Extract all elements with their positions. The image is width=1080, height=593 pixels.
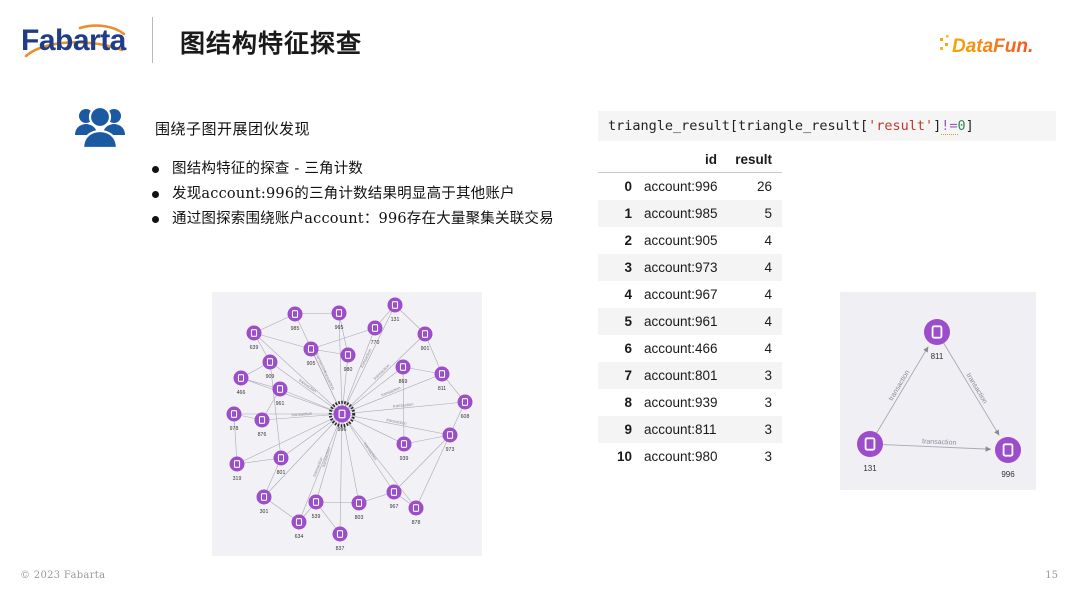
node-label: 319 [233, 476, 242, 482]
graph-node[interactable] [388, 298, 403, 313]
table-cell-id: account:466 [640, 335, 727, 362]
page-title: 图结构特征探查 [180, 24, 362, 60]
graph-node[interactable] [334, 406, 351, 423]
table-row: 6account:4664 [598, 335, 782, 362]
node-label: 980 [344, 367, 353, 373]
column-header-id: id [640, 150, 727, 173]
graph-node[interactable] [273, 382, 288, 397]
graph-node[interactable] [418, 327, 433, 342]
graph-node[interactable] [274, 451, 289, 466]
table-header-row: id result [598, 150, 782, 173]
table-cell-id: account:967 [640, 281, 727, 308]
edge-label: transaction [965, 372, 989, 405]
bullet-list: 图结构特征的探查 - 三角计数 发现account:996的三角计数结果明显高于… [148, 158, 598, 233]
table-cell-index: 3 [598, 254, 640, 281]
table-cell-result: 26 [727, 173, 782, 201]
table-row: 9account:8113 [598, 416, 782, 443]
slide-header: Fabarta 图结构特征探查 DataFun. [0, 0, 1080, 86]
table-cell-result: 4 [727, 308, 782, 335]
node-label: 869 [399, 379, 408, 385]
node-label: 985 [291, 326, 300, 332]
table-row: 3account:9734 [598, 254, 782, 281]
graph-edge [342, 414, 394, 492]
table-row: 2account:9054 [598, 227, 782, 254]
node-label: 878 [412, 520, 421, 526]
table-cell-result: 4 [727, 281, 782, 308]
node-label: 939 [400, 456, 409, 462]
node-label: 996 [338, 427, 347, 433]
node-label: 973 [446, 447, 455, 453]
graph-node[interactable] [247, 326, 262, 341]
node-label: 770 [371, 340, 380, 346]
table-cell-index: 7 [598, 362, 640, 389]
graph-node[interactable] [443, 428, 458, 443]
table-row: 0account:99626 [598, 173, 782, 201]
column-header-index [598, 150, 640, 173]
table-cell-index: 1 [598, 200, 640, 227]
lead-text: 围绕子图开展团伙发现 [155, 118, 310, 139]
people-group-icon [74, 103, 126, 149]
graph-edge [342, 374, 442, 414]
graph-node[interactable] [309, 495, 324, 510]
graph-node[interactable] [857, 431, 883, 457]
graph-node[interactable] [230, 457, 245, 472]
svg-text:DataFun.: DataFun. [952, 36, 1033, 57]
node-label: 539 [312, 514, 321, 520]
node-label: 996 [1001, 470, 1015, 479]
table-cell-id: account:939 [640, 389, 727, 416]
node-label: 131 [863, 464, 877, 473]
node-label: 466 [237, 390, 246, 396]
table-cell-id: account:980 [640, 443, 727, 470]
svg-text:Fabarta: Fabarta [21, 24, 127, 57]
graph-edge [241, 378, 342, 414]
code-suffix: ] [966, 118, 974, 134]
edge-label: transaction [298, 378, 318, 394]
graph-node[interactable] [263, 355, 278, 370]
table-cell-index: 0 [598, 173, 640, 201]
code-cell[interactable]: triangle_result[triangle_result['result'… [598, 111, 1056, 141]
table-cell-id: account:973 [640, 254, 727, 281]
table-cell-index: 2 [598, 227, 640, 254]
graph-node[interactable] [292, 515, 307, 530]
node-label: 131 [391, 317, 400, 323]
graph-node[interactable] [458, 395, 473, 410]
table-cell-result: 3 [727, 389, 782, 416]
graph-node[interactable] [341, 348, 356, 363]
table-cell-id: account:961 [640, 308, 727, 335]
node-label: 811 [438, 386, 446, 392]
graph-node[interactable] [995, 437, 1021, 463]
graph-node[interactable] [387, 485, 402, 500]
graph-node[interactable] [333, 527, 348, 542]
table-cell-id: account:996 [640, 173, 727, 201]
graph-edge [281, 414, 342, 458]
code-string-literal: 'result' [868, 118, 933, 134]
result-table: id result 0account:996261account:98552ac… [598, 150, 782, 470]
table-cell-index: 9 [598, 416, 640, 443]
node-label: 301 [260, 509, 269, 515]
table-cell-result: 3 [727, 443, 782, 470]
table-cell-id: account:811 [640, 416, 727, 443]
graph-node[interactable] [288, 307, 303, 322]
bullet-item: 发现account:996的三角计数结果明显高于其他账户 [148, 183, 598, 205]
graph-edge [342, 414, 450, 435]
node-label: 876 [258, 432, 267, 438]
edge-label: transaction [888, 369, 912, 402]
graph-edge [416, 402, 465, 508]
table-cell-id: account:801 [640, 362, 727, 389]
graph-node[interactable] [397, 437, 412, 452]
table-cell-result: 4 [727, 254, 782, 281]
table-row: 8account:9393 [598, 389, 782, 416]
table-cell-result: 3 [727, 362, 782, 389]
node-label: 965 [335, 325, 344, 331]
graph-node[interactable] [227, 407, 242, 422]
graph-node[interactable] [257, 490, 272, 505]
graph-node[interactable] [304, 342, 319, 357]
node-label: 639 [250, 345, 259, 351]
table-cell-id: account:985 [640, 200, 727, 227]
node-label: 905 [307, 361, 316, 367]
graph-node[interactable] [409, 501, 424, 516]
table-cell-index: 10 [598, 443, 640, 470]
node-label: 801 [277, 470, 286, 476]
table-cell-result: 4 [727, 227, 782, 254]
graph-node[interactable] [396, 360, 411, 375]
code-prefix: triangle_result[triangle_result[ [608, 118, 868, 134]
table-row: 10account:9803 [598, 443, 782, 470]
code-number: 0 [958, 118, 966, 134]
node-label: 634 [295, 534, 304, 540]
table-cell-id: account:905 [640, 227, 727, 254]
node-label: 837 [336, 546, 345, 552]
bullet-item: 图结构特征的探查 - 三角计数 [148, 158, 598, 180]
fabarta-logo: Fabarta [18, 18, 148, 64]
node-label: 909 [266, 374, 275, 380]
edge-label: transaction [321, 446, 332, 468]
footer-copyright: © 2023 Fabarta [20, 570, 105, 581]
table-cell-index: 8 [598, 389, 640, 416]
code-bracket: ] [933, 118, 941, 134]
node-label: 901 [421, 346, 430, 352]
column-header-result: result [727, 150, 782, 173]
node-label: 608 [461, 414, 470, 420]
graph-node[interactable] [234, 371, 249, 386]
graph-node[interactable] [368, 321, 383, 336]
graph-node[interactable] [255, 413, 270, 428]
footer-page-number: 15 [1045, 570, 1058, 581]
graph-node[interactable] [435, 367, 450, 382]
table-cell-index: 6 [598, 335, 640, 362]
node-label: 803 [355, 515, 364, 521]
table-row: 7account:8013 [598, 362, 782, 389]
edge-label: transaction [922, 438, 957, 446]
node-label: 811 [931, 352, 944, 361]
code-operator: != [941, 118, 957, 135]
table-row: 5account:9614 [598, 308, 782, 335]
table-cell-result: 4 [727, 335, 782, 362]
header-divider [152, 17, 153, 63]
table-cell-result: 3 [727, 416, 782, 443]
datafun-logo: DataFun. [938, 30, 1058, 58]
graph-node[interactable] [352, 496, 367, 511]
node-label: 978 [230, 426, 239, 432]
table-cell-index: 4 [598, 281, 640, 308]
graph-edge [877, 347, 929, 433]
node-label: 967 [390, 504, 399, 510]
bullet-item: 通过图探索围绕账户account：996存在大量聚集关联交易 [148, 208, 598, 230]
table-cell-result: 5 [727, 200, 782, 227]
table-row: 4account:9674 [598, 281, 782, 308]
graph-node[interactable] [332, 306, 347, 321]
table-row: 1account:9855 [598, 200, 782, 227]
graph-node[interactable] [924, 319, 950, 345]
graph-edge [234, 414, 237, 464]
table-cell-index: 5 [598, 308, 640, 335]
edge-label: transaction [363, 441, 379, 461]
network-graph: transactiontransactiontransactiontransac… [212, 292, 482, 556]
node-label: 961 [276, 401, 285, 407]
edge-label: transaction [372, 362, 391, 380]
graph-edge [944, 343, 1000, 435]
triangle-graph: transactiontransactiontransaction 811131… [840, 292, 1036, 490]
